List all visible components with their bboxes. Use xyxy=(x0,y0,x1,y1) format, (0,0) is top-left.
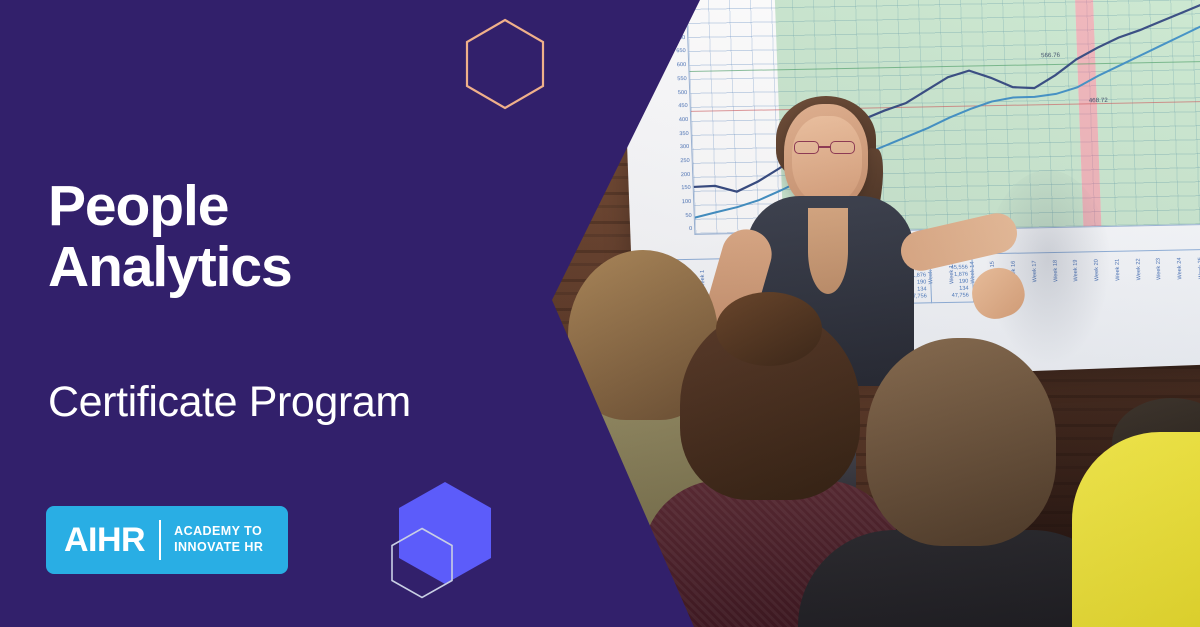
chart-y-tick: 450 xyxy=(678,104,688,110)
audience-3-head xyxy=(866,338,1056,546)
logo-tagline-line-1: ACADEMY TO xyxy=(174,524,263,540)
chart-y-tick: 500 xyxy=(678,91,688,97)
chart-y-tick: 400 xyxy=(679,118,689,124)
aihr-logo[interactable]: AIHR ACADEMY TO INNOVATE HR xyxy=(46,506,288,574)
headline-line-1: People xyxy=(48,174,228,238)
chart-y-tick: 0 xyxy=(689,227,692,233)
marketing-banner: PRODUCT B Week 1: 86.52H 900850800750700… xyxy=(0,0,1200,627)
chart-y-tick: 150 xyxy=(681,186,691,192)
chart-y-tick: 300 xyxy=(680,145,690,151)
chart-y-tick: 250 xyxy=(680,159,690,165)
data-table-cell: 47,756 xyxy=(936,293,969,301)
logo-tagline-line-2: INNOVATE HR xyxy=(174,540,263,556)
chart-y-tick: 200 xyxy=(681,173,691,179)
chart-y-tick: 600 xyxy=(677,63,687,69)
page-title: People Analytics xyxy=(48,176,292,298)
presenter-glasses xyxy=(792,141,858,154)
chart-y-tick: 100 xyxy=(682,200,692,206)
logo-tagline: ACADEMY TO INNOVATE HR xyxy=(174,524,263,555)
chart-y-tick: 350 xyxy=(679,132,689,138)
audience-4-yellow-top xyxy=(1072,432,1200,627)
audience-member-4 xyxy=(1072,404,1200,627)
chart-annotation-peak: 566.76 xyxy=(1041,52,1060,59)
chart-y-tick: 50 xyxy=(685,214,691,220)
chart-annotation-dip: 468.72 xyxy=(1089,97,1108,104)
logo-wordmark: AIHR xyxy=(64,523,145,557)
page-subtitle: Certificate Program xyxy=(48,378,411,427)
audience-member-3 xyxy=(824,338,1100,627)
audience-2-bun xyxy=(716,292,822,366)
presenter-face xyxy=(792,116,862,204)
chart-plot-area: 566.76 468.72 xyxy=(685,0,1200,235)
hexagon-outline-white-icon xyxy=(390,527,454,599)
chart-series-lines xyxy=(686,0,1200,234)
chart-y-tick: 550 xyxy=(677,77,687,83)
chart-y-tick: 650 xyxy=(676,49,686,55)
hexagon-outline-peach-icon xyxy=(464,18,546,110)
logo-divider xyxy=(159,520,161,560)
headline-line-2: Analytics xyxy=(48,237,292,298)
